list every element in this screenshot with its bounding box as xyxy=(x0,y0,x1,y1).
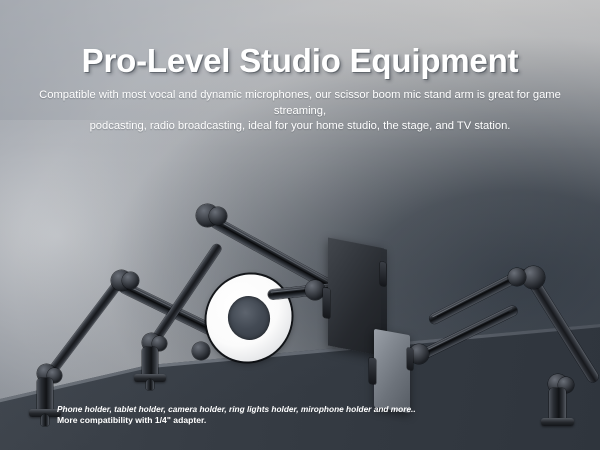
ring-light-mount-joint xyxy=(192,342,210,360)
tablet-grip-right xyxy=(380,261,386,286)
arm-right-elbow-cap xyxy=(508,268,526,286)
compatibility-caption: Phone holder, tablet holder, camera hold… xyxy=(57,404,387,426)
arm-right-clamp xyxy=(541,418,574,426)
arm-tablet-joint xyxy=(305,280,325,300)
page-subtitle: Compatible with most vocal and dynamic m… xyxy=(30,88,570,135)
page-subtitle-line-1: Compatible with most vocal and dynamic m… xyxy=(30,88,570,119)
phone xyxy=(374,329,410,413)
caption-line-1: Phone holder, tablet holder, camera hold… xyxy=(57,404,387,415)
tablet-grip-left xyxy=(323,287,330,318)
phone-grip-right xyxy=(407,347,413,370)
arm-left-clamp-screw xyxy=(41,414,49,426)
page-subtitle-line-2: podcasting, radio broadcasting, ideal fo… xyxy=(30,119,570,135)
page-title: Pro-Level Studio Equipment xyxy=(0,42,600,80)
product-banner: Pro-Level Studio Equipment Compatible wi… xyxy=(0,0,600,450)
arm-left-elbow-cap xyxy=(122,272,139,289)
arm-center-clamp-screw xyxy=(146,379,154,390)
arm-center-elbow-cap xyxy=(209,207,227,225)
caption-line-2: More compatibility with 1/4" adapter. xyxy=(57,415,387,426)
phone-grip-left xyxy=(369,357,376,384)
